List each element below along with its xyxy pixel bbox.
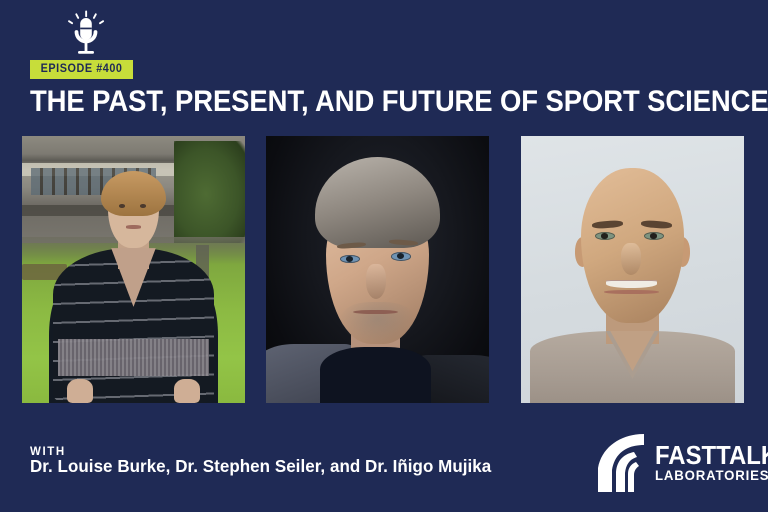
episode-title: THE PAST, PRESENT, AND FUTURE OF SPORT S…: [30, 86, 687, 118]
fast-talk-swoosh-icon: [592, 432, 646, 494]
brand-wordmark: FASTTALK LABORATORIES: [655, 443, 768, 484]
photo-artwork: [521, 136, 744, 403]
guest-photo-inigo-mujika: [521, 136, 744, 403]
photo-artwork: [266, 136, 489, 403]
brand-name-secondary: LABORATORIES: [655, 468, 768, 484]
guest-photo-stephen-seiler: [266, 136, 489, 403]
episode-number-badge: EPISODE #400: [30, 60, 133, 79]
photo-artwork: [22, 136, 245, 403]
guest-names-line: Dr. Louise Burke, Dr. Stephen Seiler, an…: [30, 456, 491, 476]
fast-talk-laboratories-logo: FASTTALK LABORATORIES: [592, 428, 748, 498]
podcast-episode-poster: EPISODE #400 THE PAST, PRESENT, AND FUTU…: [0, 0, 768, 512]
episode-number-label: EPISODE #400: [41, 64, 123, 76]
guest-photo-louise-burke: [22, 136, 245, 403]
microphone-icon: [62, 10, 110, 58]
brand-name-primary: FASTTALK: [655, 443, 768, 468]
